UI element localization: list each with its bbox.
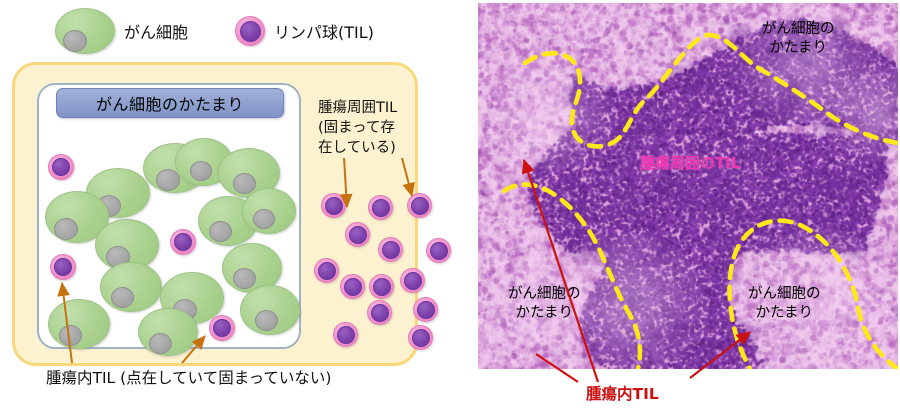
tumor-cell-nucleus (233, 268, 256, 289)
lymphocyte-nucleus (411, 197, 429, 215)
tumor-nest-label-bottom-right-line-2: かたまり (748, 304, 821, 323)
tumor-nest-label-bottom-left-line-2: かたまり (508, 304, 581, 323)
lymphocyte-nucleus (371, 304, 389, 322)
tumor-cell-nucleus (59, 325, 82, 346)
lymphocyte-nucleus (373, 278, 391, 296)
tumor-nest-label-bottom-right-line-1: がん細胞の (748, 285, 821, 304)
peritumoral-lymphocyte (340, 274, 365, 299)
intratumoral-lymphocyte (209, 315, 235, 341)
peritumoral-lymphocyte (413, 297, 438, 322)
lymphocyte-nucleus (349, 226, 367, 244)
tumor-nest-banner: がん細胞のかたまり (56, 88, 284, 118)
tumor-cell-nucleus (209, 221, 232, 242)
tumor-cell-nucleus (253, 209, 275, 229)
peritumoral-lymphocyte (426, 238, 451, 263)
peritumoral-lymphocyte (367, 300, 392, 325)
peritumoral-note-line-1: 腫瘍周囲TIL (318, 98, 466, 118)
lymphocyte-nucleus (430, 242, 448, 260)
lymphocyte-nucleus (52, 158, 70, 176)
tumor-cell-nucleus (255, 310, 278, 331)
lymphocyte-nucleus (54, 258, 72, 276)
tumor-cell (100, 262, 162, 312)
tumor-nest-label-top-right-line-1: がん細胞の (762, 20, 835, 39)
intratumoral-til-label-histology: 腫瘍内TIL (586, 382, 659, 404)
intratumoral-til-caption: 腫瘍内TIL (点在していて固まっていない) (46, 366, 446, 388)
peritumoral-note-line-3: 在している) (318, 138, 466, 158)
lymphocyte-nucleus (337, 326, 355, 344)
peritumoral-til-label-histology: 腫瘍周囲のTIL (640, 152, 740, 173)
peritumoral-lymphocyte (321, 193, 346, 218)
peritumoral-lymphocyte (407, 193, 432, 218)
intratumoral-lymphocyte (50, 254, 76, 280)
lymphocyte-nucleus (344, 278, 362, 296)
peritumoral-til-note: 腫瘍周囲TIL (固まって存 在している) (318, 98, 466, 158)
peritumoral-lymphocyte (368, 195, 393, 220)
tumor-cell (138, 308, 198, 356)
tumor-cell-nucleus (156, 169, 180, 191)
peritumoral-lymphocyte (369, 274, 394, 299)
lymphocyte-nucleus (417, 301, 435, 319)
peritumoral-lymphocyte (314, 258, 339, 283)
lymphocyte-nucleus (404, 272, 422, 290)
intratumoral-lymphocyte (48, 154, 74, 180)
peritumoral-lymphocyte (400, 268, 425, 293)
lymphocyte-nucleus (213, 319, 231, 337)
tumor-nest-label-top-right-line-2: かたまり (762, 39, 835, 58)
peritumoral-lymphocyte (408, 325, 433, 350)
tumor-cell-nucleus (111, 287, 134, 308)
intratumoral-lymphocyte (170, 229, 196, 255)
tumor-nest-label-bottom-left-line-1: がん細胞の (508, 285, 581, 304)
tumor-cell-nucleus (233, 173, 256, 194)
tumor-cell-nucleus (190, 161, 212, 181)
peritumoral-lymphocyte (378, 237, 403, 262)
tumor-cell (242, 188, 296, 234)
lymphocyte-nucleus (382, 241, 400, 259)
lymphocyte-nucleus (325, 197, 343, 215)
cells-layer (0, 0, 470, 408)
peritumoral-note-line-2: (固まって存 (318, 118, 466, 138)
tumor-nest-label-bottom-left: がん細胞の かたまり (508, 285, 581, 323)
tumor-nest-label-bottom-right: がん細胞の かたまり (748, 285, 821, 323)
tumor-cell (240, 285, 300, 335)
lymphocyte-nucleus (318, 262, 336, 280)
peritumoral-lymphocyte (345, 222, 370, 247)
lymphocyte-nucleus (174, 233, 192, 251)
tumor-cell-nucleus (149, 333, 172, 354)
tumor-cell-nucleus (54, 218, 78, 240)
tumor-cell (48, 299, 110, 349)
schematic-panel: がん細胞 リンパ球(TIL) がん細胞のかたまり 腫瘍周囲TIL (固まって存 … (0, 0, 470, 408)
peritumoral-lymphocyte (333, 322, 358, 347)
lymphocyte-nucleus (412, 329, 430, 347)
lymphocyte-nucleus (372, 199, 390, 217)
tumor-nest-label-top-right: がん細胞の かたまり (762, 20, 835, 58)
figure-root: がん細胞 リンパ球(TIL) がん細胞のかたまり 腫瘍周囲TIL (固まって存 … (0, 0, 900, 408)
